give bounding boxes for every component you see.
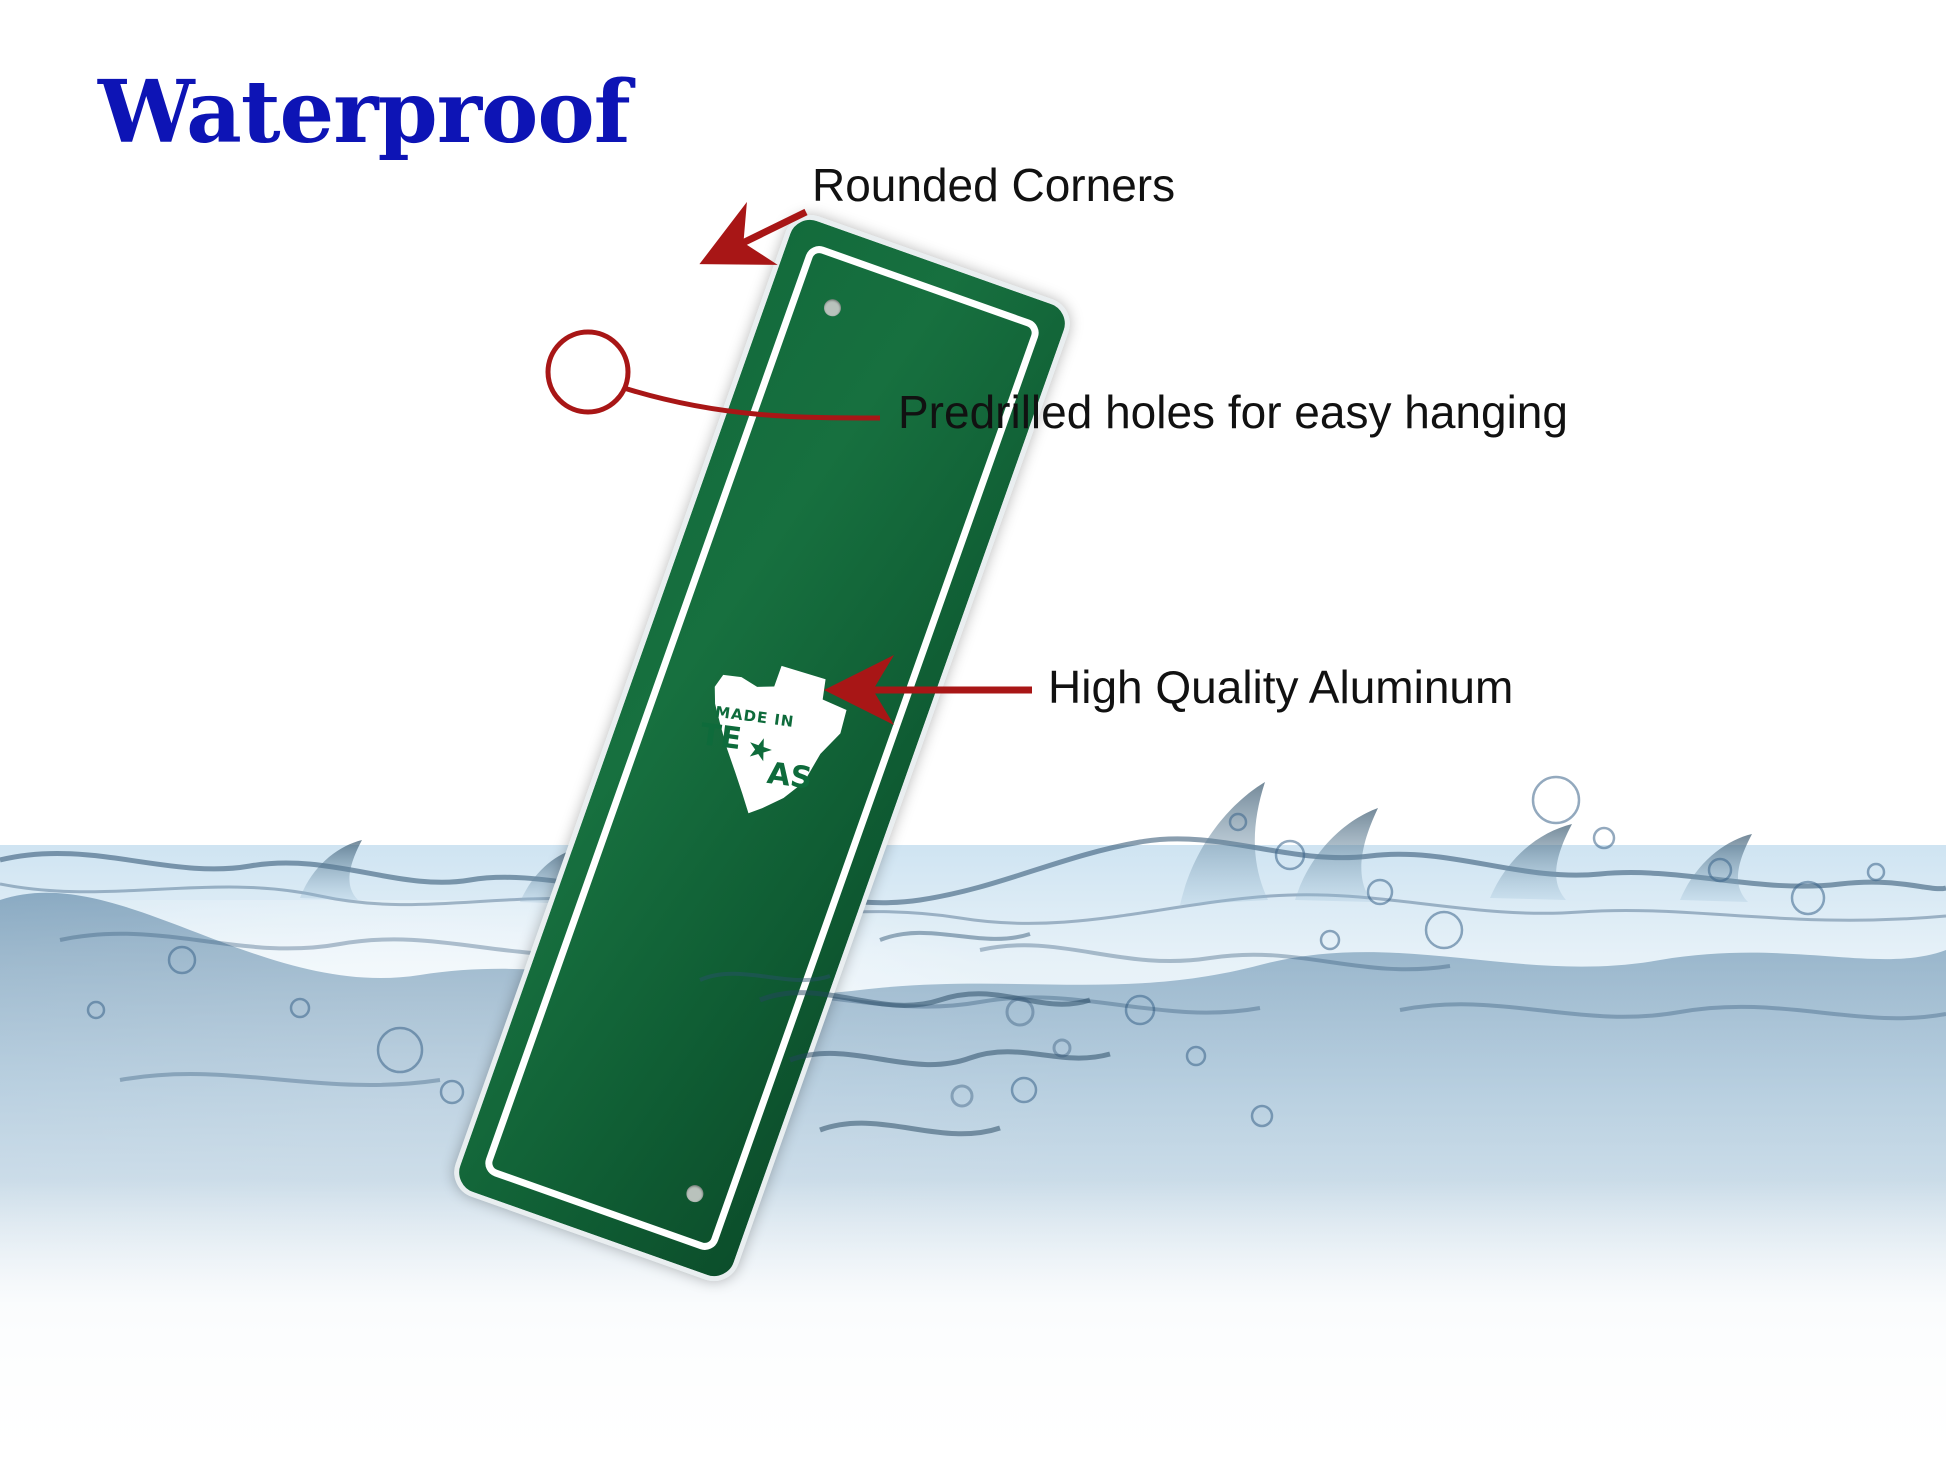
sign-plate: MADE IN TE ★ AS [447,208,1077,1288]
sign-layer: MADE IN TE ★ AS [0,0,1946,1460]
callout-label-rounded-corners: Rounded Corners [812,158,1175,212]
product-feature-image: MADE IN TE ★ AS [0,0,1946,1460]
headline-waterproof: Waterproof [98,62,630,163]
callout-label-predrilled-holes: Predrilled holes for easy hanging [898,385,1568,439]
street-sign: MADE IN TE ★ AS [447,208,1077,1288]
water-over-sign [0,0,1946,1460]
callout-label-high-quality-aluminum: High Quality Aluminum [1048,660,1513,714]
